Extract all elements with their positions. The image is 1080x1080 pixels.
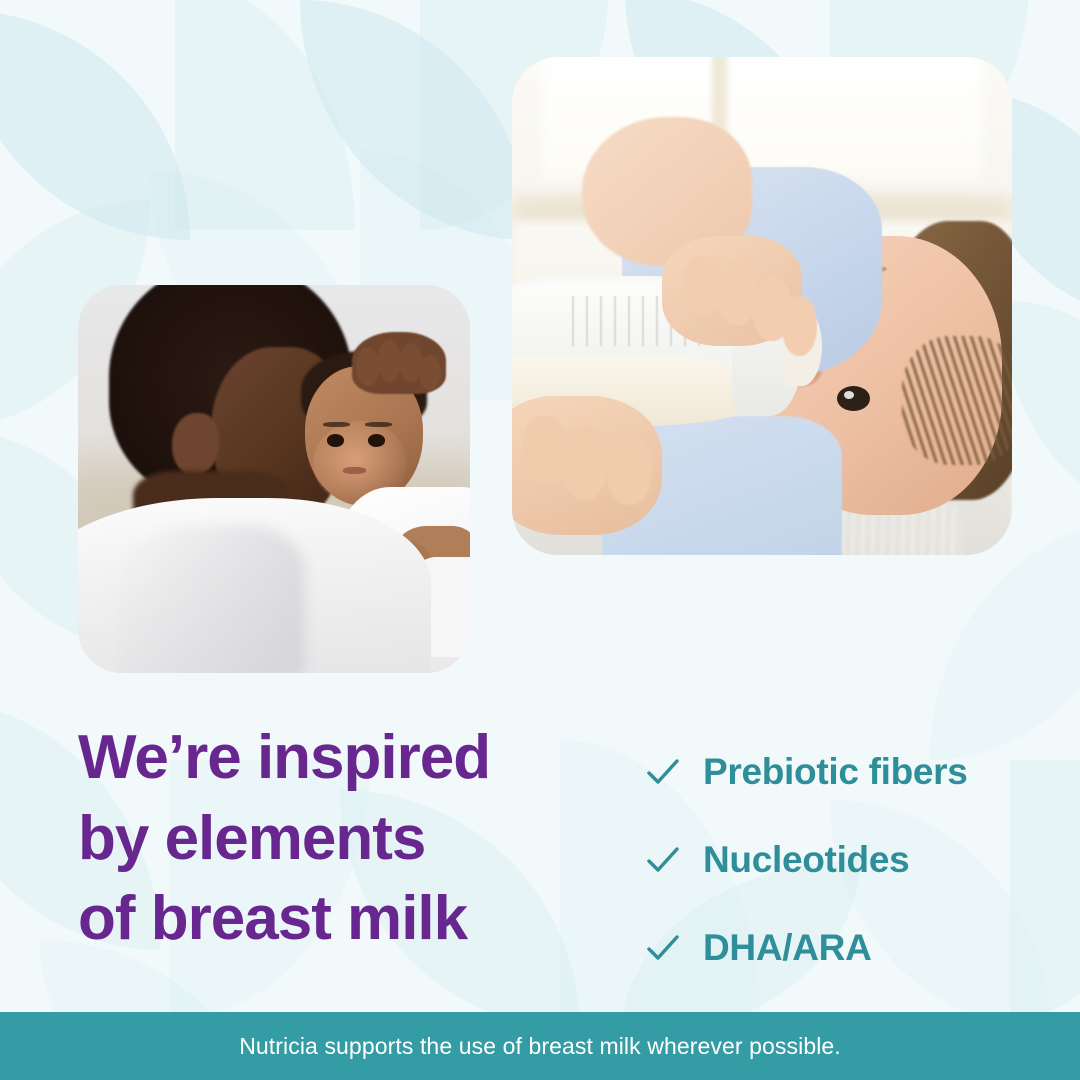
headline-line-2: by elements (78, 799, 598, 880)
headline-line-3: of breast milk (78, 879, 598, 960)
benefit-item-prebiotic-fibers: Prebiotic fibers (645, 728, 1045, 816)
check-icon (645, 842, 681, 878)
check-icon (645, 930, 681, 966)
benefit-label: Nucleotides (703, 839, 909, 881)
benefit-label: DHA/ARA (703, 927, 872, 969)
headline-line-1: We’re inspired (78, 718, 598, 799)
headline: We’re inspired by elements of breast mil… (78, 718, 598, 960)
benefits-list: Prebiotic fibers Nucleotides DHA/ARA (645, 728, 1045, 992)
benefit-label: Prebiotic fibers (703, 751, 968, 793)
footer-disclaimer-text: Nutricia supports the use of breast milk… (239, 1033, 841, 1060)
benefit-item-nucleotides: Nucleotides (645, 816, 1045, 904)
check-icon (645, 754, 681, 790)
benefit-item-dha-ara: DHA/ARA (645, 904, 1045, 992)
footer-banner: Nutricia supports the use of breast milk… (0, 1012, 1080, 1080)
